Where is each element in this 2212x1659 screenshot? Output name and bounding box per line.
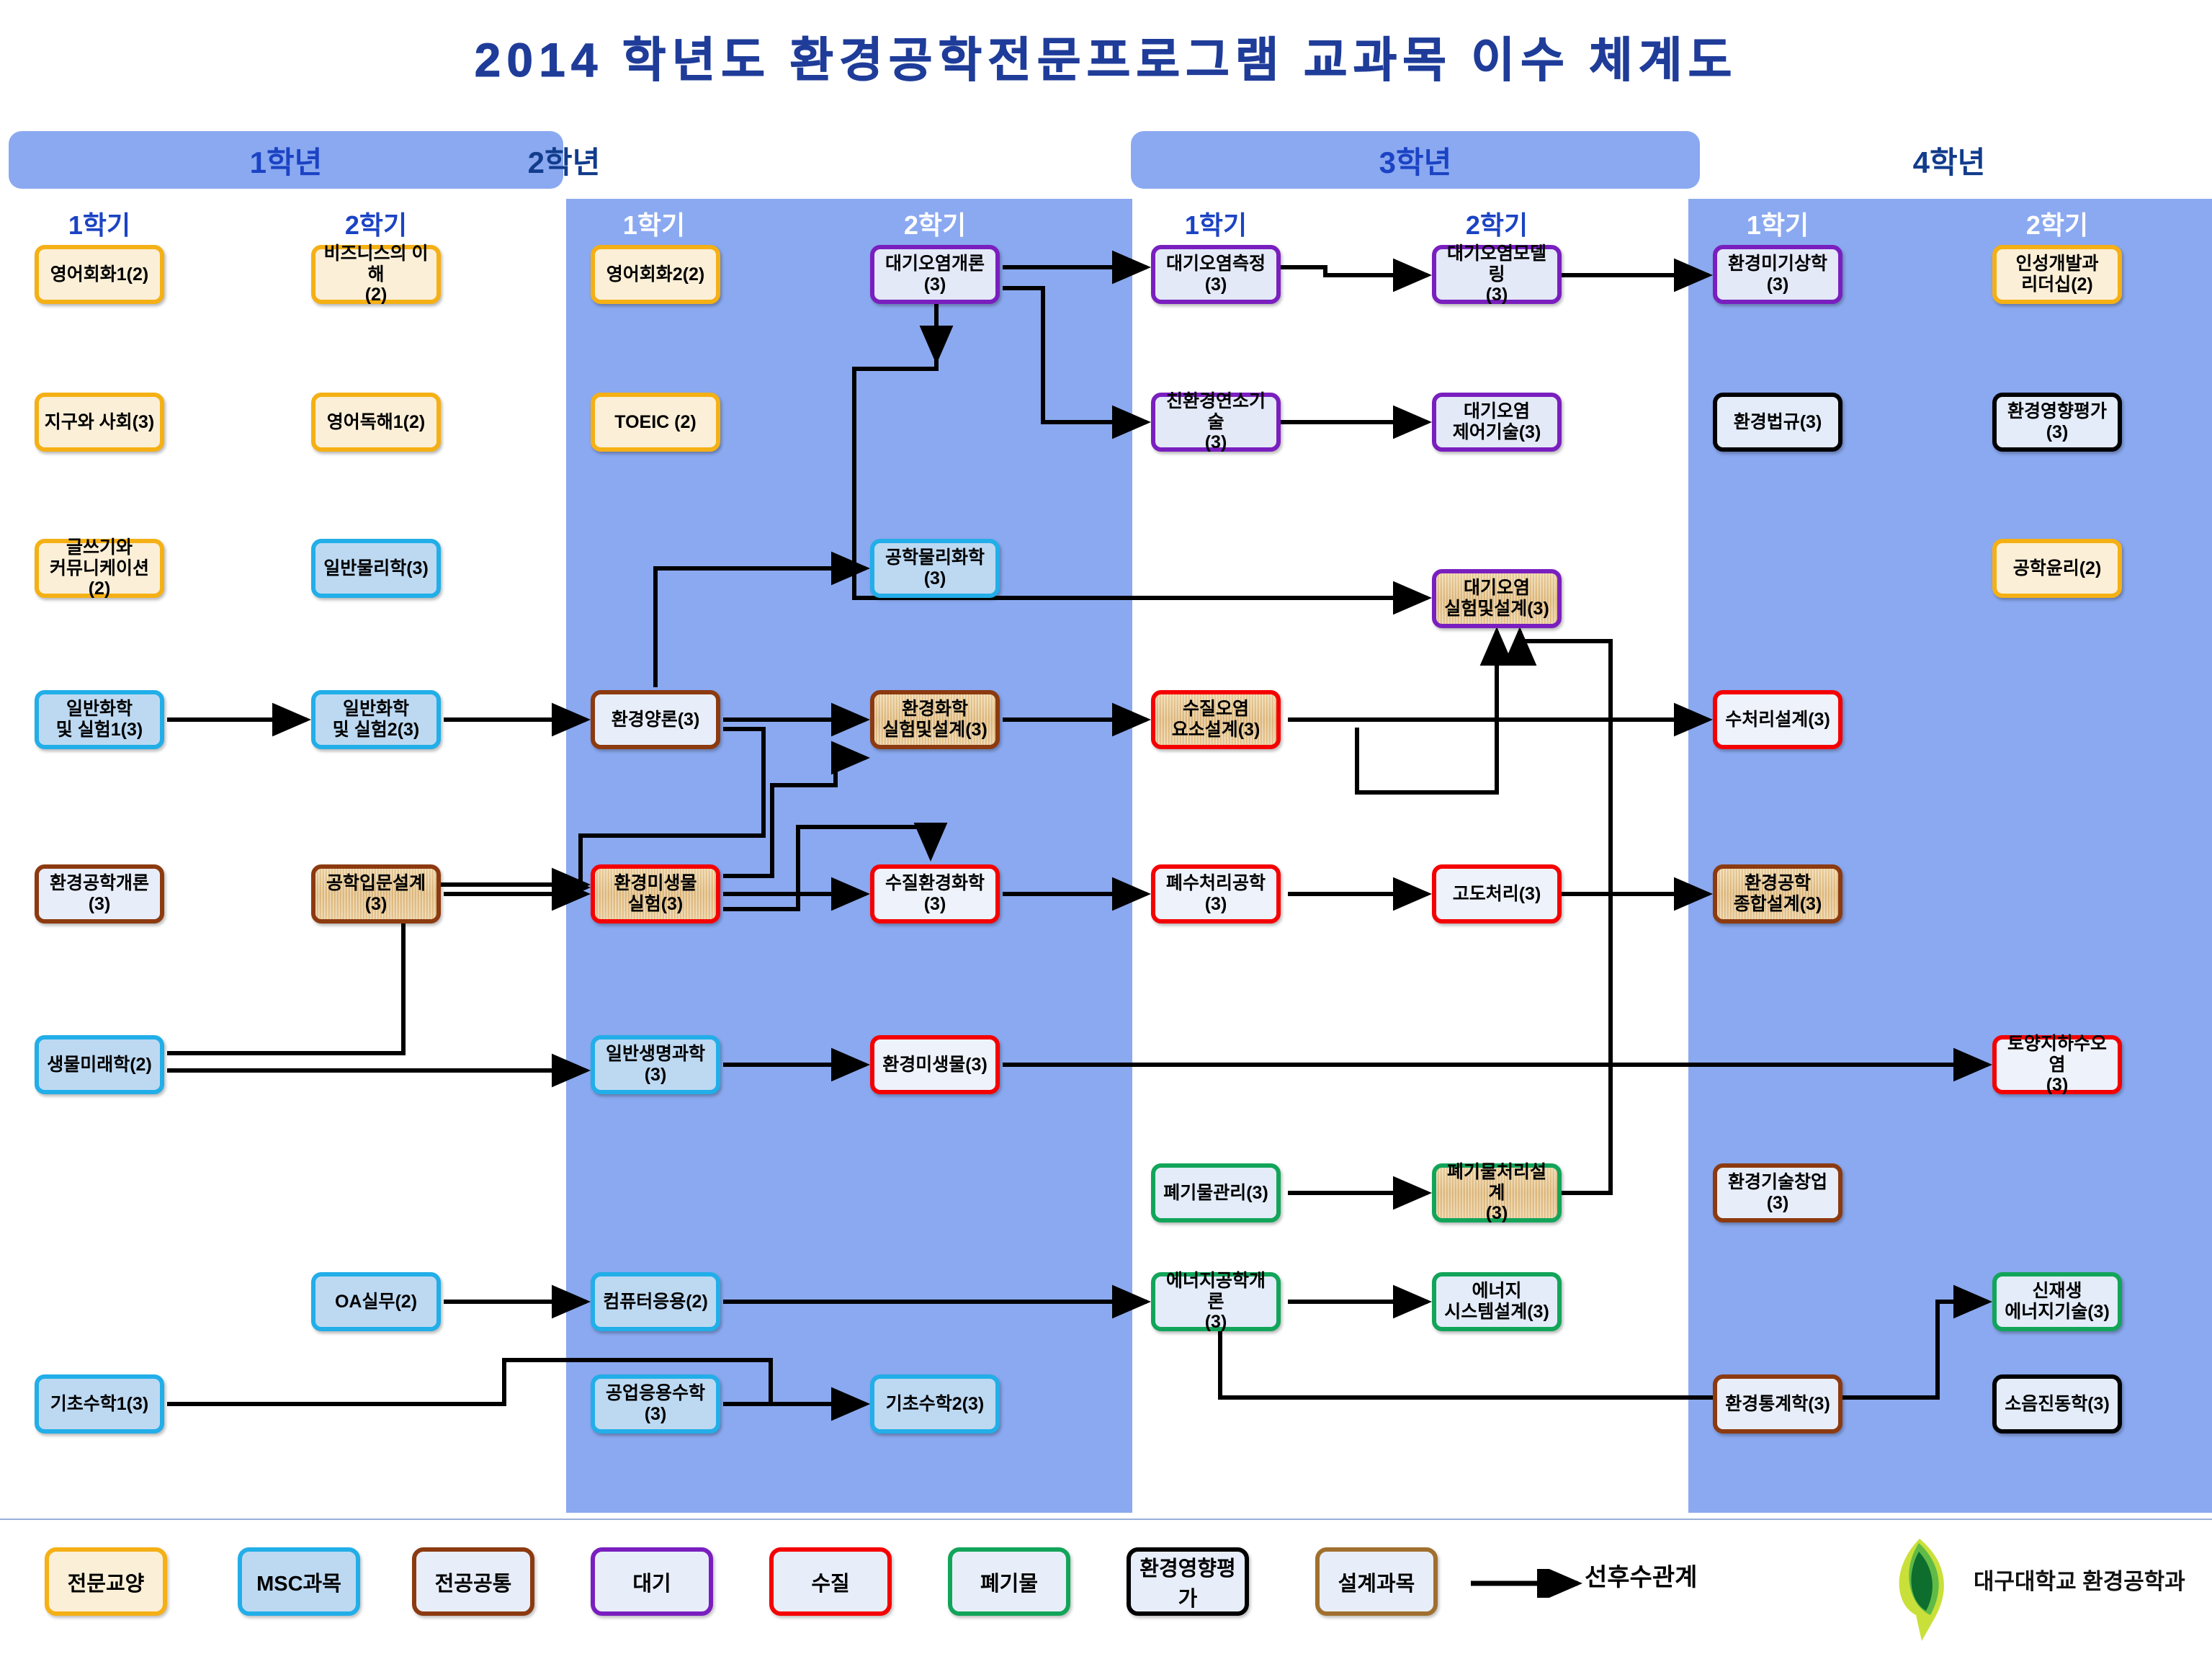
course-box[interactable]: 대기오염모델링 (3) <box>1432 245 1562 304</box>
course-box[interactable]: 폐기물처리설계 (3) <box>1432 1163 1562 1222</box>
course-box[interactable]: 환경미기상학(3) <box>1713 245 1842 304</box>
course-box[interactable]: 공학윤리(2) <box>1992 539 2122 598</box>
year-band-4: 4학년 <box>1693 131 2206 189</box>
course-box[interactable]: 폐기물관리(3) <box>1151 1163 1281 1222</box>
semester-header-3: 1학기 <box>546 203 762 243</box>
semester-header-8: 2학기 <box>1949 203 2165 243</box>
course-box[interactable]: 글쓰기와 커뮤니케이션(2) <box>35 539 164 598</box>
course-box[interactable]: 공업응용수학(3) <box>591 1374 720 1434</box>
semester-header-2: 2학기 <box>268 203 484 243</box>
course-box[interactable]: 기초수학1(3) <box>35 1374 164 1434</box>
legend-chip-air: 대기 <box>591 1547 713 1616</box>
legend-chip-waste: 폐기물 <box>948 1547 1070 1616</box>
year-band-3: 3학년 <box>1131 131 1700 189</box>
course-box[interactable]: 일반생명과학(3) <box>591 1035 720 1094</box>
course-box[interactable]: 공학물리화학(3) <box>870 539 1000 598</box>
semester-header-1: 1학기 <box>0 203 207 243</box>
legend-chip-common: 전공공통 <box>412 1547 534 1616</box>
course-box[interactable]: 환경미생물(3) <box>870 1035 1000 1094</box>
course-box[interactable]: 환경통계학(3) <box>1713 1374 1842 1434</box>
course-box[interactable]: 고도처리(3) <box>1432 864 1562 924</box>
course-box[interactable]: 에너지 시스템설계(3) <box>1432 1272 1562 1331</box>
course-box[interactable]: 폐수처리공학(3) <box>1151 864 1281 924</box>
course-box[interactable]: 환경미생물 실험(3) <box>591 864 720 924</box>
course-box[interactable]: 영어회화2(2) <box>591 245 720 304</box>
course-box[interactable]: 대기오염개론(3) <box>870 245 1000 304</box>
course-box[interactable]: 소음진동학(3) <box>1992 1374 2122 1434</box>
semester-header-5: 1학기 <box>1108 203 1324 243</box>
course-box[interactable]: 지구와 사회(3) <box>35 393 164 452</box>
legend-arrow-label: 선후수관계 <box>1585 1557 1697 1593</box>
course-box[interactable]: 토양지하수오염 (3) <box>1992 1035 2122 1094</box>
legend-chip-msc: MSC과목 <box>238 1547 360 1616</box>
legend-chip-water: 수질 <box>769 1547 892 1616</box>
course-box[interactable]: 대기오염 실험및설계(3) <box>1432 569 1562 628</box>
course-box[interactable]: 환경법규(3) <box>1713 393 1842 452</box>
course-box[interactable]: 일반화학 및 실험1(3) <box>35 690 164 749</box>
page-title: 2014 학년도 환경공학전문프로그램 교과목 이수 체계도 <box>0 22 2212 91</box>
course-box[interactable]: 영어회화1(2) <box>35 245 164 304</box>
course-box[interactable]: 생물미래학(2) <box>35 1035 164 1094</box>
course-box[interactable]: 환경영향평가(3) <box>1992 393 2122 452</box>
course-box[interactable]: 공학입문설계(3) <box>311 864 441 924</box>
semester-header-4: 2학기 <box>827 203 1043 243</box>
course-box[interactable]: 에너지공학개론 (3) <box>1151 1272 1281 1331</box>
course-box[interactable]: 기초수학2(3) <box>870 1374 1000 1434</box>
course-box[interactable]: 환경기술창업(3) <box>1713 1163 1842 1222</box>
course-box[interactable]: 환경화학 실험및설계(3) <box>870 690 1000 749</box>
course-box[interactable]: 환경공학 종합설계(3) <box>1713 864 1842 924</box>
course-box[interactable]: 수질오염 요소설계(3) <box>1151 690 1281 749</box>
university-logo-icon <box>1866 1534 1974 1642</box>
course-box[interactable]: 수처리설계(3) <box>1713 690 1842 749</box>
course-box[interactable]: OA실무(2) <box>311 1272 441 1331</box>
legend-arrow-icon <box>1469 1569 1592 1598</box>
course-box[interactable]: 환경양론(3) <box>591 690 720 749</box>
course-box[interactable]: 일반물리학(3) <box>311 539 441 598</box>
semester-header-6: 2학기 <box>1389 203 1605 243</box>
year-band-2: 2학년 <box>287 131 841 189</box>
course-box[interactable]: 인성개발과 리더십(2) <box>1992 245 2122 304</box>
legend-chip-eia: 환경영향평가 <box>1127 1547 1249 1616</box>
course-box[interactable]: 영어독해1(2) <box>311 393 441 452</box>
university-logo-text: 대구대학교 환경공학과 <box>1974 1563 2185 1596</box>
course-box[interactable]: 환경공학개론(3) <box>35 864 164 924</box>
course-box[interactable]: 비즈니스의 이해 (2) <box>311 245 441 304</box>
legend-chip-design: 설계과목 <box>1315 1547 1438 1616</box>
course-box[interactable]: TOEIC (2) <box>591 393 720 452</box>
legend-chip-gened: 전문교양 <box>45 1547 167 1616</box>
course-box[interactable]: 일반화학 및 실험2(3) <box>311 690 441 749</box>
course-box[interactable]: 친환경연소기술 (3) <box>1151 393 1281 452</box>
semester-header-7: 1학기 <box>1670 203 1886 243</box>
course-box[interactable]: 대기오염 제어기술(3) <box>1432 393 1562 452</box>
course-box[interactable]: 신재생 에너지기술(3) <box>1992 1272 2122 1331</box>
curriculum-flowchart: 2014 학년도 환경공학전문프로그램 교과목 이수 체계도 1학년2학년3학년… <box>0 0 2212 1659</box>
course-box[interactable]: 대기오염측정(3) <box>1151 245 1281 304</box>
course-box[interactable]: 컴퓨터응용(2) <box>591 1272 720 1331</box>
course-box[interactable]: 수질환경화학(3) <box>870 864 1000 924</box>
